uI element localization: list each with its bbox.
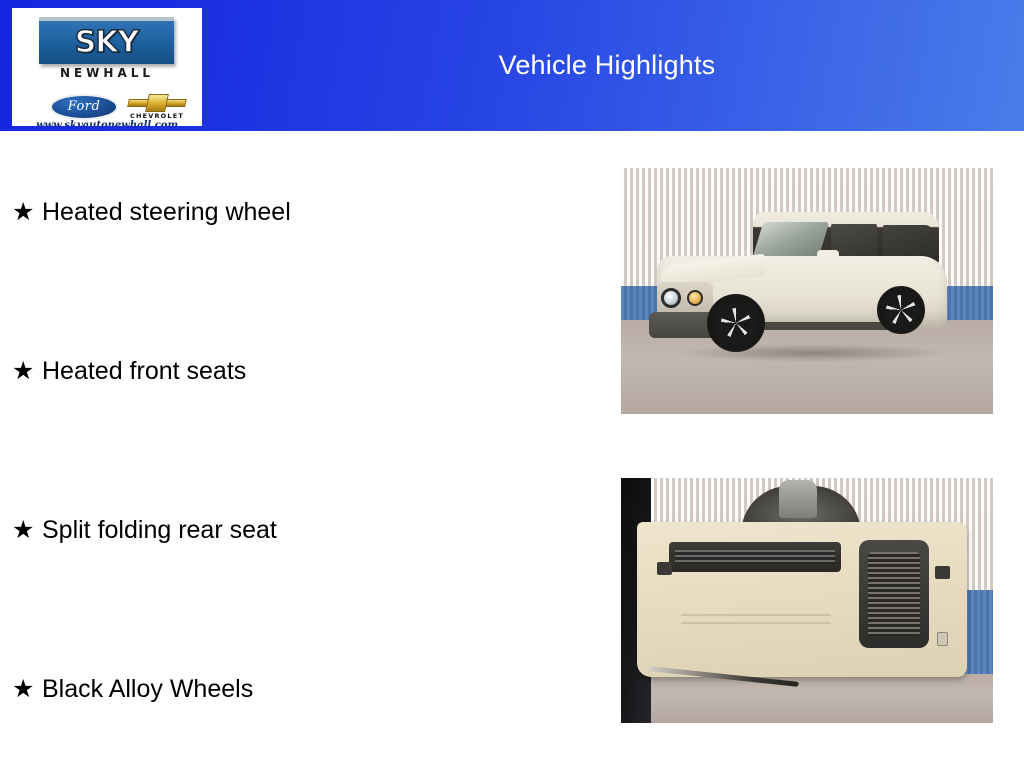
front-alloy-wheel <box>707 294 765 352</box>
dealer-location-label: NEWHALL <box>12 66 202 81</box>
star-bullet-icon: ★ <box>12 515 42 545</box>
star-bullet-icon: ★ <box>12 674 42 704</box>
star-bullet-icon: ★ <box>12 197 42 227</box>
showroom-floor <box>621 674 993 723</box>
vehicle-interior-tailgate-photo[interactable] <box>621 478 993 723</box>
bowtie-bar-center <box>145 94 169 112</box>
highlight-label-3: Split folding rear seat <box>42 514 277 546</box>
tailgate-latch <box>937 632 948 646</box>
highlights-list: ★ Heated steering wheel ★ Heated front s… <box>0 131 600 768</box>
dealer-website-url[interactable]: www.skyautonewhall.com <box>12 120 202 126</box>
sky-brand-plate: SKY <box>39 17 174 64</box>
tailgate-hinge-left <box>657 562 672 575</box>
vehicle-exterior-photo[interactable] <box>621 168 993 414</box>
star-bullet-icon: ★ <box>12 356 42 386</box>
highlight-label-2: Heated front seats <box>42 355 246 387</box>
ford-wordmark: Ford <box>52 99 116 115</box>
tailgate-hinge-right <box>935 566 950 579</box>
list-item: ★ Heated steering wheel <box>12 192 572 232</box>
panel-grooves <box>681 610 831 628</box>
upper-vent-grille <box>669 542 841 572</box>
dealer-logo-artwork: SKY NEWHALL Ford CHEVROLET www.skyautone… <box>12 8 202 126</box>
chevrolet-logo-icon: CHEVROLET <box>124 92 190 122</box>
list-item: ★ Heated front seats <box>12 351 572 391</box>
ford-logo-icon: Ford <box>50 94 118 120</box>
chevrolet-bowtie-icon <box>128 94 186 112</box>
tailgate-inner-panel <box>637 522 967 677</box>
speaker-grille <box>859 540 929 648</box>
dealer-logo[interactable]: SKY NEWHALL Ford CHEVROLET www.skyautone… <box>12 8 202 126</box>
highlight-label-1: Heated steering wheel <box>42 196 291 228</box>
list-item: ★ Split folding rear seat <box>12 510 572 550</box>
list-item: ★ Black Alloy Wheels <box>12 669 572 709</box>
highlight-label-4: Black Alloy Wheels <box>42 673 253 705</box>
side-mirror <box>817 250 839 263</box>
bronco-vehicle <box>649 204 961 384</box>
sky-brand-wordmark: SKY <box>39 24 174 61</box>
page-header: Vehicle Highlights SKY NEWHALL Ford CHEV… <box>0 0 1024 131</box>
rear-alloy-wheel <box>877 286 925 334</box>
spare-tire-carrier <box>779 480 817 518</box>
grille-and-headlights <box>657 282 713 316</box>
